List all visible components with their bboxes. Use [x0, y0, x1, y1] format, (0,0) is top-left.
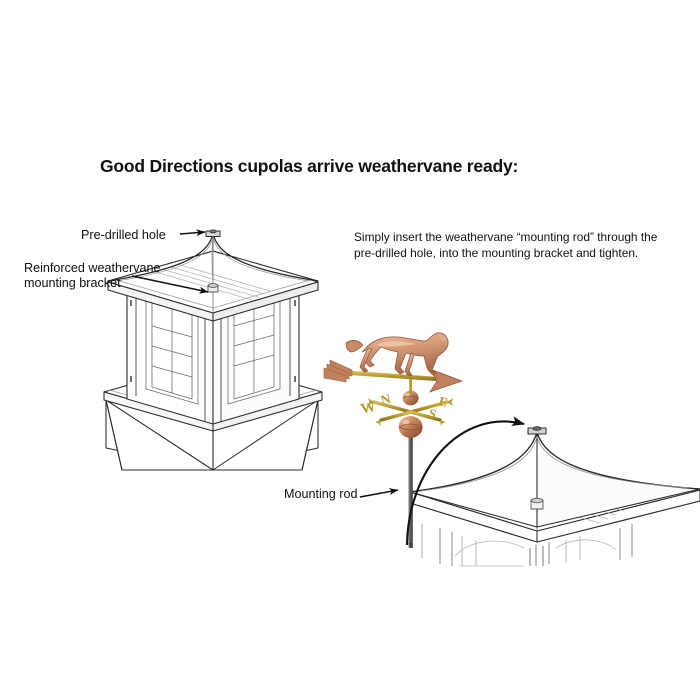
weathervane-arrow — [324, 360, 462, 392]
left-cupola-predrilled-hole — [206, 230, 220, 237]
leader-line-pre-drilled-hole — [180, 232, 205, 234]
instruction-line1: Simply insert the weathervane “mounting … — [354, 230, 657, 244]
right-cupola-predrilled-hole — [528, 427, 546, 434]
label-pre-drilled-hole: Pre-drilled hole — [81, 228, 166, 243]
page-title: Good Directions cupolas arrive weatherva… — [100, 156, 518, 177]
instruction-text: Simply insert the weathervane “mounting … — [354, 230, 657, 262]
label-mounting-bracket-line1: Reinforced weathervane — [24, 261, 161, 275]
right-cupola-mounting-bracket — [531, 498, 543, 509]
direction-letter-e: E — [437, 393, 449, 410]
label-mounting-rod: Mounting rod — [284, 487, 358, 502]
illustration-canvas: W N E S — [0, 0, 700, 700]
instruction-line2: pre-drilled hole, into the mounting brac… — [354, 246, 638, 260]
weathervane-horse — [346, 333, 448, 376]
right-cupola-drawing — [410, 427, 700, 566]
direction-letter-n: N — [379, 391, 392, 408]
label-mounting-bracket-line2: mounting bracket — [24, 276, 121, 290]
arrow-fletching — [324, 360, 352, 382]
leader-line-mounting-rod — [360, 490, 398, 497]
label-mounting-bracket: Reinforced weathervanemounting bracket — [24, 261, 161, 292]
lower-copper-globe — [399, 416, 423, 438]
mounting-rod — [408, 437, 412, 548]
